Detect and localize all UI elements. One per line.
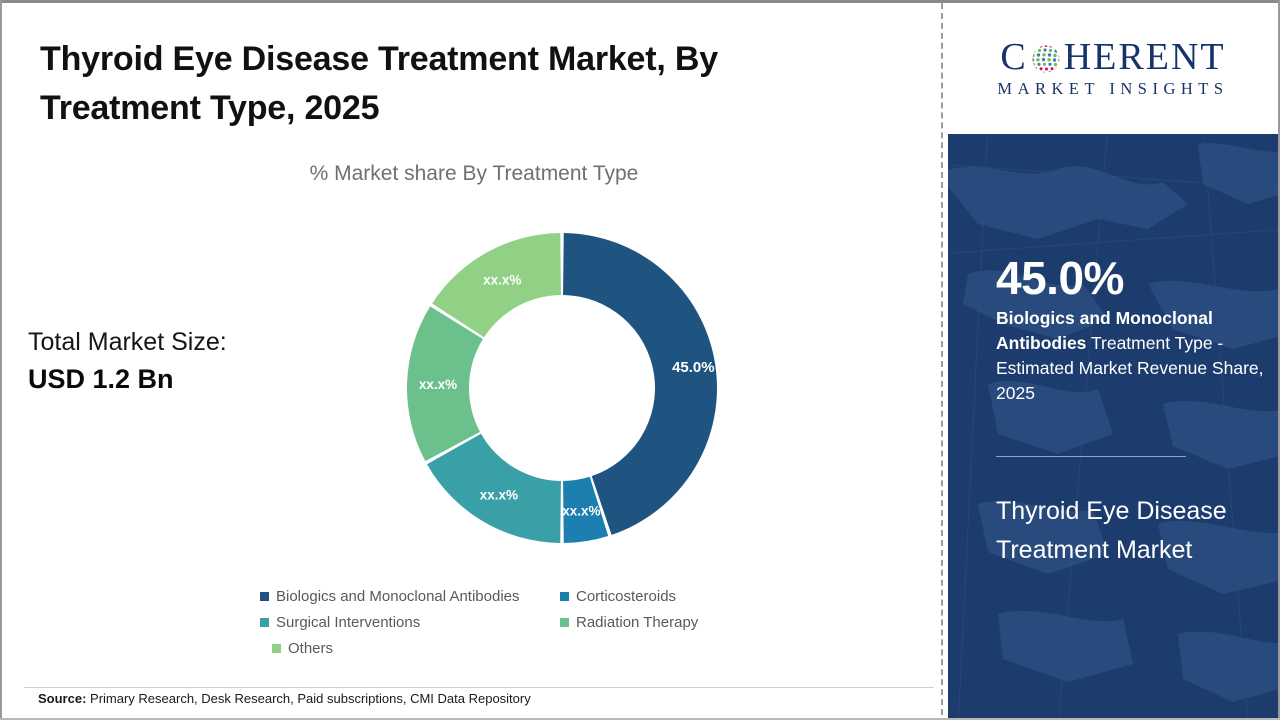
world-map-texture <box>948 134 1278 718</box>
donut-slice-label: 45.0% <box>672 359 715 376</box>
legend-item-biologics[interactable]: Biologics and Monoclonal Antibodies <box>260 588 560 605</box>
legend-swatch-icon <box>260 592 269 601</box>
legend-label: Others <box>288 640 333 657</box>
source-divider <box>24 687 934 688</box>
donut-slice-label: xx.x% <box>562 503 600 518</box>
source-prefix: Source: <box>38 691 86 706</box>
source-text: Primary Research, Desk Research, Paid su… <box>86 691 530 706</box>
page-title: Thyroid Eye Disease Treatment Market, By… <box>40 35 840 134</box>
legend-swatch-icon <box>260 618 269 627</box>
stat-divider <box>996 456 1186 457</box>
legend-row: Others <box>260 640 760 657</box>
chart-legend: Biologics and Monoclonal Antibodies Cort… <box>260 588 760 666</box>
legend-item-others[interactable]: Others <box>260 640 560 657</box>
legend-swatch-icon <box>272 644 281 653</box>
legend-label: Radiation Therapy <box>576 614 698 631</box>
donut-slice-label: xx.x% <box>483 272 521 287</box>
pane-dashed-divider <box>941 3 943 715</box>
report-slide: Thyroid Eye Disease Treatment Market, By… <box>0 0 1280 720</box>
donut-chart: 45.0%xx.x%xx.x%xx.x%xx.x% <box>407 233 717 543</box>
legend-swatch-icon <box>560 618 569 627</box>
legend-item-corticosteroids[interactable]: Corticosteroids <box>560 588 760 605</box>
legend-label: Surgical Interventions <box>276 614 420 631</box>
donut-slice-label: xx.x% <box>419 377 457 392</box>
chart-subtitle: % Market share By Treatment Type <box>2 162 946 186</box>
stat-description: Biologics and Monoclonal Antibodies Trea… <box>996 306 1264 406</box>
legend-row: Surgical Interventions Radiation Therapy <box>260 614 760 631</box>
donut-slice-label: xx.x% <box>480 488 518 503</box>
legend-item-radiation[interactable]: Radiation Therapy <box>560 614 760 631</box>
source-note: Source: Primary Research, Desk Research,… <box>38 691 531 706</box>
chart-pane: Thyroid Eye Disease Treatment Market, By… <box>2 3 946 718</box>
donut-chart-svg: 45.0%xx.x%xx.x%xx.x%xx.x% <box>407 233 717 543</box>
logo-wordmark: C <box>1000 38 1225 76</box>
globe-icon <box>1029 42 1063 76</box>
logo-word-herent: HERENT <box>1064 38 1226 76</box>
legend-item-surgical[interactable]: Surgical Interventions <box>260 614 560 631</box>
legend-label: Corticosteroids <box>576 588 676 605</box>
market-name: Thyroid Eye Disease Treatment Market <box>996 492 1246 570</box>
brand-pane: C <box>948 3 1278 718</box>
legend-label: Biologics and Monoclonal Antibodies <box>276 588 520 605</box>
legend-row: Biologics and Monoclonal Antibodies Cort… <box>260 588 760 605</box>
logo-letter-c: C <box>1000 38 1027 76</box>
stat-percent: 45.0% <box>996 251 1124 305</box>
total-market-size-label: Total Market Size: <box>28 328 227 357</box>
logo-tagline: MARKET INSIGHTS <box>997 79 1228 99</box>
legend-swatch-icon <box>560 592 569 601</box>
stat-panel: 45.0% Biologics and Monoclonal Antibodie… <box>948 134 1278 718</box>
logo: C <box>948 3 1278 134</box>
total-market-size-value: USD 1.2 Bn <box>28 364 174 395</box>
